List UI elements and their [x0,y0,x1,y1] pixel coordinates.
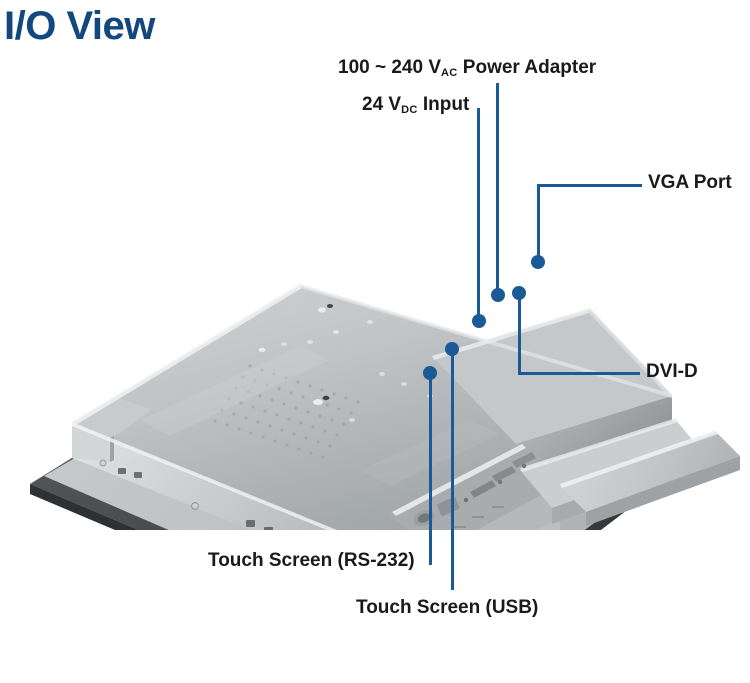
callout-label-touch-usb: Touch Screen (USB) [356,598,538,617]
leader-dot-touch-usb [445,342,459,356]
leader-line-vga-port-horizontal [537,184,642,187]
leader-dot-touch-rs232 [423,366,437,380]
product-photo [0,170,750,530]
callout-label-dvi-d: DVI-D [646,362,698,381]
io-view-page: I/O View [0,0,750,683]
callout-label-vga-port: VGA Port [648,173,732,192]
leader-line-dc-input [477,108,480,321]
leader-line-touch-rs232 [429,372,432,565]
leader-line-dvi-d-vertical [518,292,521,375]
callout-label-dc-input: 24 VDC Input [362,95,469,114]
leader-dot-dvi-d [512,286,526,300]
leader-line-power-adapter [496,83,499,295]
leader-dot-dc-input [472,314,486,328]
callout-label-power-adapter: 100 ~ 240 VAC Power Adapter [338,58,596,77]
leader-dot-vga-port [531,255,545,269]
callout-label-touch-rs232: Touch Screen (RS-232) [208,551,415,570]
leader-line-touch-usb [451,348,454,590]
leader-line-dvi-d-horizontal [518,372,640,375]
page-title: I/O View [4,6,155,46]
leader-line-vga-port-vertical [537,184,540,262]
leader-dot-power-adapter [491,288,505,302]
